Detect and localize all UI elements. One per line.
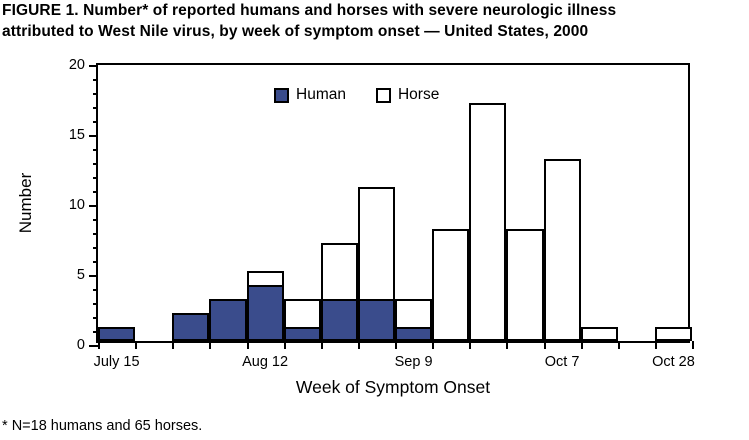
bar-horse [544,159,581,341]
bar-horse [506,229,543,341]
y-axis-tick-label: 10 [69,197,85,213]
y-tick-minor [93,93,98,95]
bar-horse [655,327,692,341]
y-tick-minor [93,149,98,151]
legend-swatch-horse-icon [376,88,391,103]
x-tick [247,341,249,349]
x-tick [321,341,323,349]
legend-item-human: Human [274,86,346,104]
y-tick-minor [93,303,98,305]
x-axis-title: Week of Symptom Onset [296,377,490,398]
x-tick [544,341,546,349]
y-tick-major [89,135,98,137]
x-tick [692,341,694,349]
x-axis-tick-label: Sep 9 [395,354,433,370]
bar-human [247,285,284,341]
bar-human [284,327,321,341]
x-tick [98,341,100,349]
y-tick-minor [93,121,98,123]
x-tick [618,341,620,349]
x-tick [135,341,137,349]
y-tick-minor [93,107,98,109]
plot-area: 05101520 July 15Aug 12Sep 9Oct 7Oct 28 H… [96,63,690,343]
y-tick-minor [93,79,98,81]
y-tick-minor [93,247,98,249]
y-axis-tick-label: 20 [69,57,85,73]
x-tick [469,341,471,349]
y-tick-minor [93,317,98,319]
x-tick [432,341,434,349]
x-tick [395,341,397,349]
bar-human [358,299,395,341]
bar-human [172,313,209,341]
x-tick [581,341,583,349]
y-tick-minor [93,289,98,291]
y-axis-tick-label: 15 [69,127,85,143]
bar-chart: Number 05101520 July 15Aug 12Sep 9Oct 7O… [0,52,749,402]
footnote-text: N=18 humans and 65 horses. [12,418,203,434]
x-tick [358,341,360,349]
legend-item-horse: Horse [376,86,439,104]
x-axis-tick-label: Oct 28 [652,354,695,370]
y-axis-tick-label: 5 [77,267,85,283]
y-tick-major [89,65,98,67]
x-tick [655,341,657,349]
x-tick [172,341,174,349]
y-tick-minor [93,219,98,221]
bar-human [395,327,432,341]
x-axis-tick-label: July 15 [94,354,140,370]
legend-swatch-human-icon [274,88,289,103]
y-tick-minor [93,191,98,193]
y-tick-major [89,345,98,347]
x-tick [506,341,508,349]
x-tick [209,341,211,349]
bar-human [98,327,135,341]
footnote: * N=18 humans and 65 horses. [2,418,202,434]
figure-title-line-2: attributed to West Nile virus, by week o… [2,21,749,42]
footnote-marker: * [2,418,8,434]
bar-human [209,299,246,341]
y-tick-minor [93,233,98,235]
y-axis-title: Number [16,173,36,233]
bar-human [321,299,358,341]
y-tick-major [89,205,98,207]
legend-label: Horse [398,86,439,104]
y-tick-minor [93,163,98,165]
x-axis-tick-label: Oct 7 [545,354,580,370]
x-tick [284,341,286,349]
bar-horse [469,103,506,341]
bar-horse [432,229,469,341]
y-tick-minor [93,261,98,263]
y-tick-major [89,275,98,277]
x-axis-tick-label: Aug 12 [242,354,288,370]
y-axis-tick-label: 0 [77,337,85,353]
bars-layer [98,65,688,341]
chart-legend: HumanHorse [274,86,439,104]
y-tick-minor [93,177,98,179]
figure-title: FIGURE 1. Number* of reported humans and… [2,0,749,42]
bar-horse [581,327,618,341]
figure-title-line-1: FIGURE 1. Number* of reported humans and… [2,0,749,21]
legend-label: Human [296,86,346,104]
